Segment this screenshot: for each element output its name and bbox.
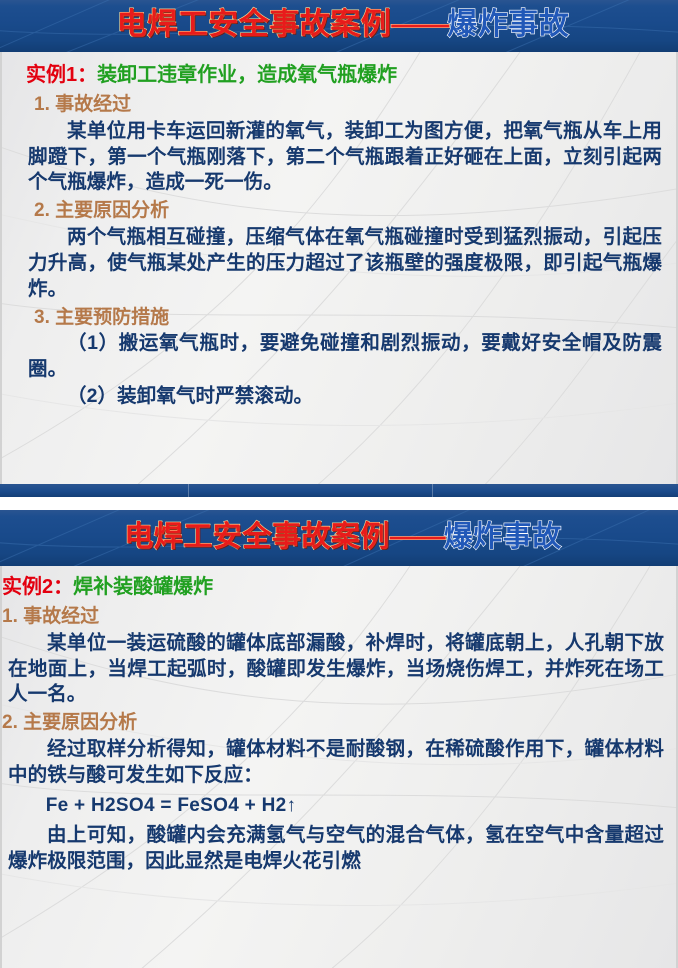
slide-1: 电焊工安全事故案例——爆炸事故 实例1：装卸工违章作业，造成氧气瓶爆炸 1. 事… [0,0,678,497]
chemical-formula: Fe + H2SO4 = FeSO4 + H2↑ [2,793,668,820]
slide-separator [0,497,678,510]
deck-title-sub: 爆炸事故 [444,521,562,553]
slide-2-title-row: 电焊工安全事故案例——爆炸事故 [0,510,678,566]
section-1-paragraph-1: 某单位用卡车运回新灌的氧气，装卸工为图方便，把氧气瓶从车上用脚蹬下，第一个气瓶刚… [26,119,664,197]
section-heading-3: 3. 主要预防措施 [26,305,664,331]
slide-2-body: 实例2：焊补装酸罐爆炸 1. 事故经过 某单位一装运硫酸的罐体底部漏酸，补焊时，… [0,566,678,875]
slide-1-footer-bar [0,484,678,497]
section-3-paragraph-1: （1）搬运氧气瓶时，要避免碰撞和剧烈振动，要戴好安全帽及防震圈。 [26,331,664,383]
section-heading-1: 1. 事故经过 [2,604,668,630]
section-3-paragraph-2: （2）装卸氧气时严禁滚动。 [26,384,664,410]
section-2-paragraph-1: 经过取样分析得知，罐体材料不是耐酸钢，在稀硫酸作用下，罐体材料中的铁与酸可发生如… [2,737,668,789]
slide-deck: 电焊工安全事故案例——爆炸事故 实例1：装卸工违章作业，造成氧气瓶爆炸 1. 事… [0,0,678,968]
case-id: 实例2： [2,576,73,598]
deck-title-main: 电焊工安全事故案例 [117,8,392,41]
case-title: 实例2：焊补装酸罐爆炸 [2,574,668,601]
case-title: 实例1：装卸工违章作业，造成氧气瓶爆炸 [26,62,664,89]
case-text: 焊补装酸罐爆炸 [73,576,213,598]
slide-1-body: 实例1：装卸工违章作业，造成氧气瓶爆炸 1. 事故经过 某单位用卡车运回新灌的氧… [0,52,678,410]
slide-2: 电焊工安全事故案例——爆炸事故 实例2：焊补装酸罐爆炸 1. 事故经过 某单位一… [0,510,678,968]
slide-2-header: 电焊工安全事故案例——爆炸事故 [0,510,678,566]
deck-title-dash: —— [391,8,447,41]
section-1-paragraph-1: 某单位一装运硫酸的罐体底部漏酸，补焊时，将罐底朝上，人孔朝下放在地面上，当焊工起… [2,631,668,709]
deck-title: 电焊工安全事故案例——爆炸事故 [124,523,562,552]
case-id: 实例1： [26,64,97,86]
section-heading-1: 1. 事故经过 [26,92,664,118]
case-text: 装卸工违章作业，造成氧气瓶爆炸 [97,64,397,86]
slide-1-title-row: 电焊工安全事故案例——爆炸事故 [0,0,678,52]
deck-title: 电焊工安全事故案例——爆炸事故 [117,10,570,40]
section-2-paragraph-2: 由上可知，酸罐内会充满氢气与空气的混合气体，氢在空气中含量超过爆炸极限范围，因此… [2,823,668,875]
section-heading-2: 2. 主要原因分析 [2,710,668,736]
deck-title-main: 电焊工安全事故案例 [124,521,390,553]
section-2-paragraph-1: 两个气瓶相互碰撞，压缩气体在氧气瓶碰撞时受到猛烈振动，引起压力升高，使气瓶某处产… [26,225,664,303]
section-heading-2: 2. 主要原因分析 [26,198,664,224]
deck-title-sub: 爆炸事故 [447,8,569,41]
slide-1-header: 电焊工安全事故案例——爆炸事故 [0,0,678,52]
deck-title-dash: —— [390,521,444,553]
